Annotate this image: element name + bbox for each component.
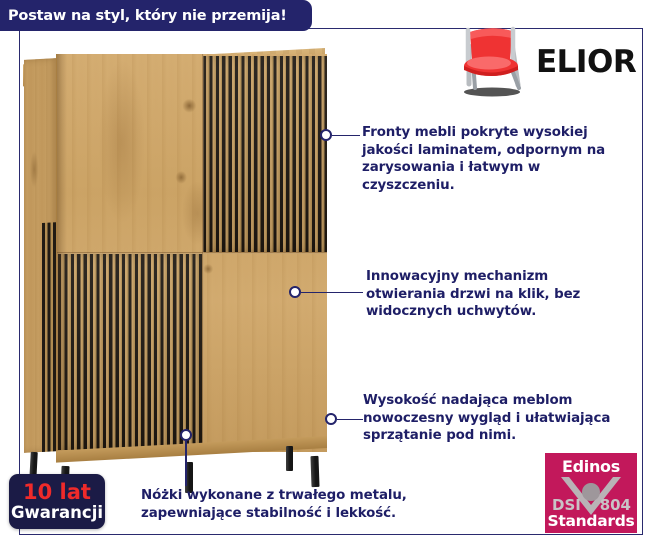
callout-text-height: Wysokość nadająca meblom nowoczesny wygl…	[363, 392, 629, 445]
brand-name: ELIOR	[536, 44, 636, 80]
callout-marker-height[interactable]	[325, 413, 337, 425]
panel-seam-vertical	[202, 54, 204, 452]
slat-panel-bottom-left	[58, 254, 203, 450]
callout-leader-laminate	[332, 135, 360, 137]
callout-leader-height	[337, 419, 363, 421]
warranty-years: 10 lat	[23, 482, 91, 503]
warranty-label: Gwarancji	[11, 503, 103, 522]
edinos-standards-badge: Edinos DSI 804 Standards	[545, 453, 637, 533]
callout-text-laminate: Fronty mebli pokryte wysokiej jakości la…	[362, 124, 634, 194]
brand-logo: ELIOR	[452, 22, 637, 100]
infographic-canvas: Postaw na styl, który nie przemija!	[0, 0, 650, 550]
callout-leader-push-to-open	[301, 292, 363, 294]
callout-text-push-to-open: Innowacyjny mechanizm otwierania drzwi n…	[366, 268, 618, 321]
front-edge-shadow	[57, 54, 67, 452]
callout-leader-legs	[185, 441, 187, 486]
headline-ribbon: Postaw na styl, który nie przemija!	[0, 0, 312, 31]
edinos-title: Edinos	[545, 457, 637, 476]
metal-leg-back-right	[286, 446, 293, 471]
callout-marker-laminate[interactable]	[320, 129, 332, 141]
panel-seam-horizontal	[57, 252, 327, 254]
warranty-badge: 10 lat Gwarancji	[9, 474, 105, 529]
callout-marker-legs[interactable]	[180, 429, 192, 441]
wardrobe-front	[56, 54, 327, 452]
red-chair-icon	[452, 22, 530, 100]
callout-text-legs: Nóżki wykonane z trwałego metalu, zapewn…	[141, 487, 471, 522]
headline-text: Postaw na styl, który nie przemija!	[8, 8, 287, 24]
wardrobe-body	[18, 32, 338, 452]
metal-leg-front-right	[310, 456, 319, 487]
edinos-subtitle: Standards	[545, 512, 637, 530]
callout-marker-push-to-open[interactable]	[289, 286, 301, 298]
product-image-wardrobe	[18, 32, 338, 452]
slat-panel-top-right	[203, 56, 327, 252]
